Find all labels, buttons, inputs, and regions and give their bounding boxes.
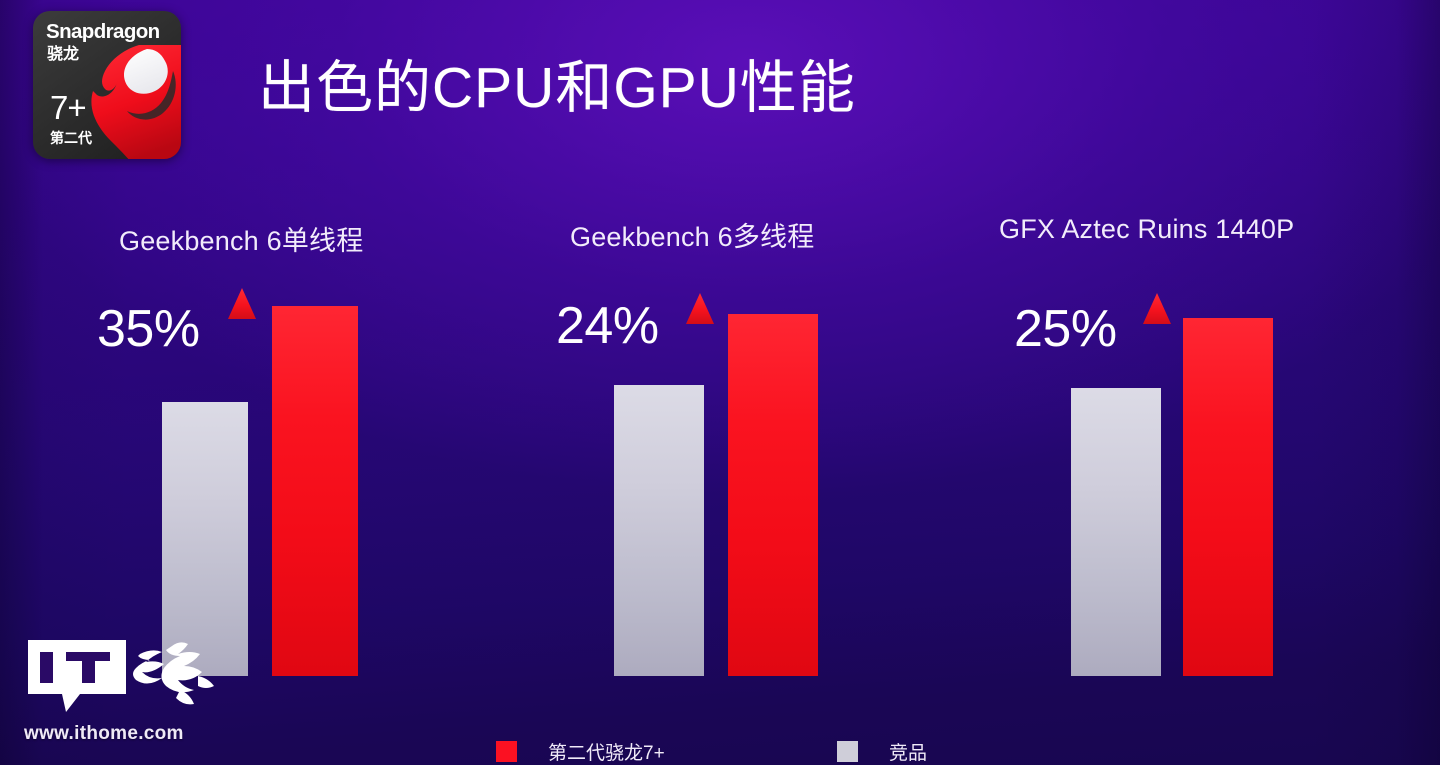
improvement-percent: 25% (1014, 303, 1117, 355)
improvement-percent: 35% (97, 303, 200, 355)
ithome-logo-icon (22, 636, 222, 722)
legend-label: 第二代骁龙7+ (548, 738, 665, 765)
bar-snapdragon (272, 306, 358, 676)
group-title: Geekbench 6单线程 (119, 219, 363, 258)
bar-snapdragon (1183, 318, 1273, 676)
ithome-watermark: www.ithome.com (22, 636, 222, 754)
watermark-url: www.ithome.com (24, 723, 184, 745)
legend-swatch-gray (837, 741, 858, 762)
snapdragon-s-icon (77, 45, 181, 159)
legend-label: 竞品 (889, 738, 927, 765)
snapdragon-chip-badge: Snapdragon 骁龙 7+ 第二代 (33, 11, 181, 159)
improvement-percent: 24% (556, 300, 659, 352)
bar-competitor (1071, 388, 1161, 676)
group-title: Geekbench 6多线程 (570, 215, 814, 254)
legend-item-competitor: 竞品 (837, 738, 927, 765)
legend-item-snapdragon: 第二代骁龙7+ (496, 738, 665, 765)
bar-competitor (614, 385, 704, 676)
slide-title: 出色的CPU和GPU性能 (258, 56, 856, 122)
bar-snapdragon (728, 314, 818, 676)
bar-competitor (162, 402, 248, 676)
group-title: GFX Aztec Ruins 1440P (999, 214, 1294, 245)
legend-swatch-red (496, 741, 517, 762)
chip-brand-cn-label: 骁龙 (47, 47, 79, 63)
chip-brand-label: Snapdragon (46, 22, 160, 43)
slide-canvas: Snapdragon 骁龙 7+ 第二代 出色的CPU和GPU性能 (0, 0, 1440, 765)
